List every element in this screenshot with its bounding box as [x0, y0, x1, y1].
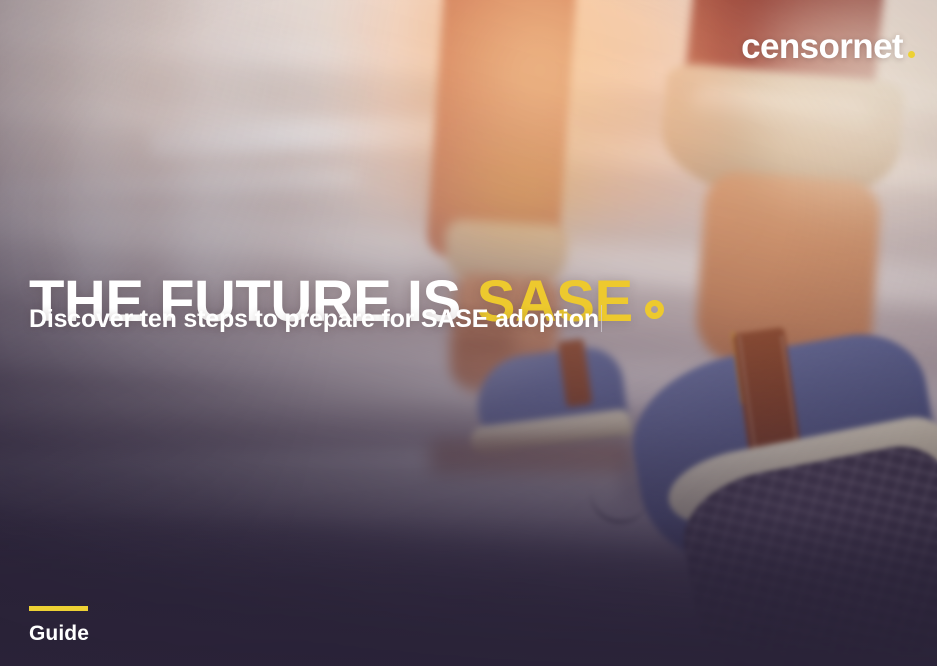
footer-accent-rule	[29, 606, 88, 611]
logo-dot-icon	[908, 51, 915, 58]
censornet-logo[interactable]: censornet	[741, 29, 915, 64]
subtitle-text: Discover ten steps to prepare for SASE a…	[29, 305, 599, 333]
page-subtitle: Discover ten steps to prepare for SASE a…	[29, 305, 602, 334]
text-caret	[601, 305, 602, 332]
logo-wordmark: censornet	[741, 29, 903, 64]
footer-block: Guide	[29, 606, 89, 644]
cover-page: censornet THE FUTURE IS SASE Discover te…	[0, 0, 937, 666]
headline-ring-icon	[645, 300, 664, 319]
document-type-label: Guide	[29, 623, 89, 644]
cover-content: censornet THE FUTURE IS SASE Discover te…	[0, 0, 937, 666]
